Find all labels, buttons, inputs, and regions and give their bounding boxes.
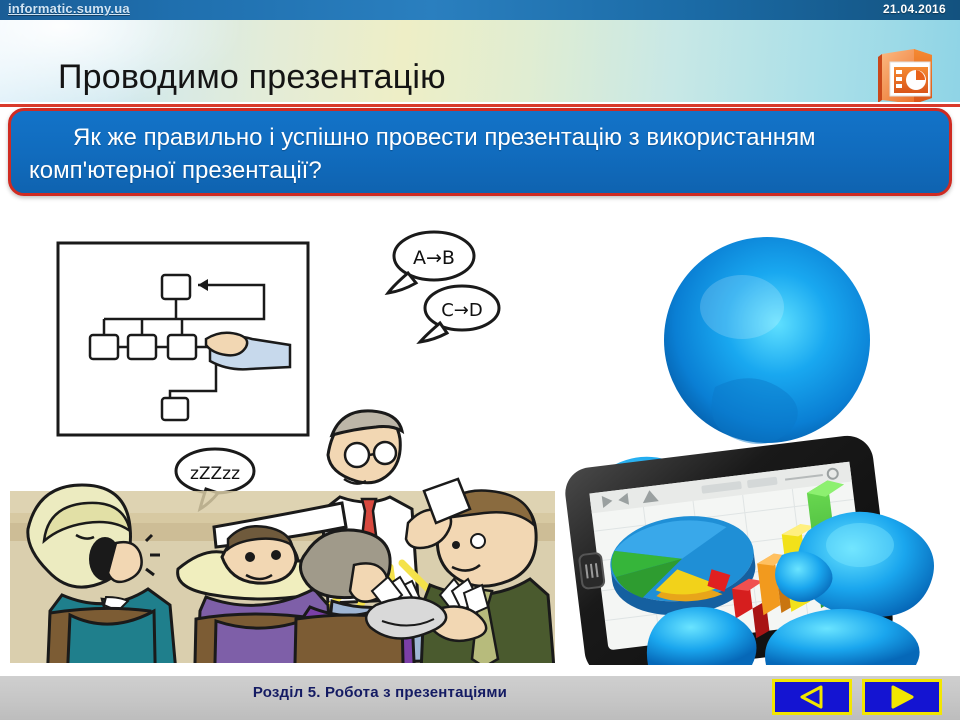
page-title: Проводимо презентацію <box>58 58 446 97</box>
header-band: Проводимо презентацію <box>0 20 960 102</box>
blue-3d-character-with-tablet <box>560 215 955 665</box>
svg-text:A→B: A→B <box>413 247 455 269</box>
slide-content: A→B C→D zZZzz <box>0 205 960 670</box>
slide-date: 21.04.2016 <box>883 2 946 16</box>
next-slide-button[interactable] <box>862 679 942 715</box>
footer-bar: Розділ 5. Робота з презентаціями <box>0 676 960 720</box>
header-divider <box>0 104 960 107</box>
svg-text:C→D: C→D <box>441 300 483 321</box>
triangle-left-icon <box>797 684 827 710</box>
top-bar: informatic.sumy.ua 21.04.2016 <box>0 0 960 20</box>
chapter-title: Розділ 5. Робота з презентаціями <box>0 684 760 701</box>
prev-slide-button[interactable] <box>772 679 852 715</box>
question-callout-box: Як же правильно і успішно провести презе… <box>8 108 952 196</box>
svg-text:zZZzz: zZZzz <box>190 464 240 484</box>
site-url-link[interactable]: informatic.sumy.ua <box>8 1 130 16</box>
triangle-right-icon <box>887 684 917 710</box>
boring-presentation-cartoon: A→B C→D zZZzz <box>10 223 555 663</box>
powerpoint-presentation-icon <box>876 46 938 102</box>
question-text: Як же правильно і успішно провести презе… <box>29 121 933 187</box>
